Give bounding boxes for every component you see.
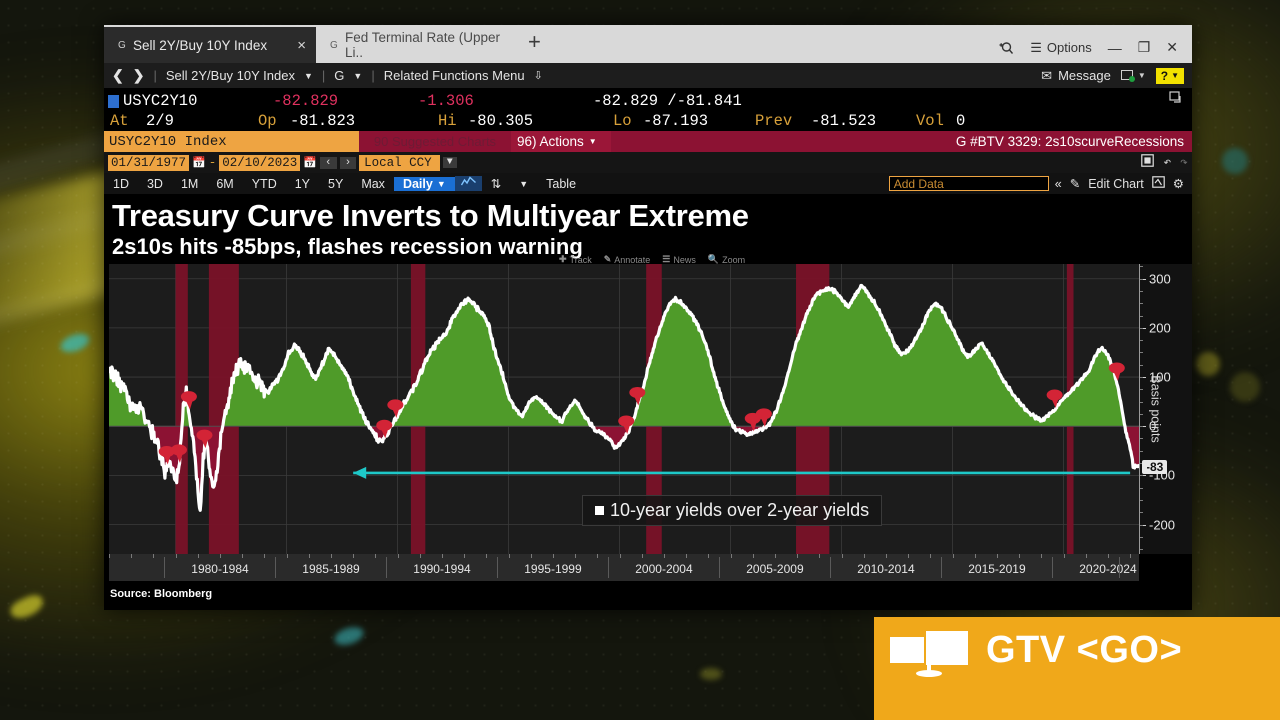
x-axis-separator xyxy=(497,557,498,578)
bokeh-shape xyxy=(1230,372,1260,402)
x-minor-tick xyxy=(686,554,687,558)
gtv-banner: GTV <GO> xyxy=(874,617,1280,720)
chevron-down-icon: ▼ xyxy=(1171,71,1179,80)
chevron-double-down-icon[interactable]: ⇩ xyxy=(534,69,543,82)
search-person-icon[interactable] xyxy=(998,40,1014,56)
x-axis-separator xyxy=(386,557,387,578)
tab-strip: G Sell 2Y/Buy 10Y Index × G Fed Terminal… xyxy=(104,25,1192,63)
x-minor-tick xyxy=(731,554,732,558)
x-tick-label: 2010-2014 xyxy=(857,562,914,576)
x-minor-tick xyxy=(664,554,665,558)
help-label: ? xyxy=(1161,69,1168,83)
high-value: -80.305 xyxy=(468,112,613,130)
y-axis-title: Basis points xyxy=(1148,375,1162,442)
crosshair-icon: ✚ xyxy=(559,254,567,265)
plot-wrapper: ✚Track ✎Annotate ☰News 🔍Zoom 10-year yie… xyxy=(104,264,1192,604)
x-minor-tick xyxy=(575,554,576,558)
chevron-down-icon: ▼ xyxy=(589,137,597,146)
add-data-input[interactable]: Add Data xyxy=(889,176,1049,191)
date-step-forward-button[interactable]: › xyxy=(340,157,357,169)
legend-label: 10-year yields over 2-year yields xyxy=(610,500,869,521)
options-label: Options xyxy=(1047,40,1092,55)
minimize-button[interactable]: — xyxy=(1108,40,1122,56)
navigation-bar: ❮ ❯ | Sell 2Y/Buy 10Y Index ▼ | G ▼ | Re… xyxy=(104,63,1192,88)
date-range-toolbar: 01/31/1977 📅 - 02/10/2023 📅 ‹ › Local CC… xyxy=(104,152,1192,173)
x-minor-tick xyxy=(198,554,199,558)
x-minor-tick xyxy=(398,554,399,558)
new-tab-button[interactable]: + xyxy=(516,31,553,57)
y-tick-label: -200 xyxy=(1149,517,1175,532)
x-minor-tick xyxy=(620,554,621,558)
breadcrumb-function[interactable]: G xyxy=(334,68,344,83)
hamburger-icon: ☰ xyxy=(1030,40,1042,56)
x-minor-tick xyxy=(331,554,332,558)
quote-block: USYC2Y10 -82.829 -1.306 -82.829 /-81.841… xyxy=(104,88,1192,131)
x-minor-tick xyxy=(486,554,487,558)
monitor-icon xyxy=(890,631,968,673)
tab-sell-2y-buy-10y-index[interactable]: G Sell 2Y/Buy 10Y Index × xyxy=(104,27,316,63)
calendar-icon[interactable]: 📅 xyxy=(303,156,317,170)
chart-window-controls: ↶ ↷ xyxy=(1141,154,1188,171)
period-toolbar: 1D 3D 1M 6M YTD 1Y 5Y Max Daily ▼ ⇅ ▼ Ta… xyxy=(104,173,1192,194)
frequency-label: Daily xyxy=(403,177,433,191)
x-axis-separator xyxy=(719,557,720,578)
actions-label: 96) Actions xyxy=(517,134,584,149)
chart-legend: 10-year yields over 2-year yields xyxy=(582,495,882,526)
x-tick-label: 1995-1999 xyxy=(524,562,581,576)
y-tick-label: 300 xyxy=(1149,271,1171,286)
annotate-icon[interactable] xyxy=(1152,176,1165,191)
x-axis: 1980-19841985-19891990-19941995-19992000… xyxy=(109,554,1139,581)
window-controls: ☰ Options — ❐ ✕ xyxy=(998,39,1192,63)
x-minor-tick xyxy=(242,554,243,558)
x-minor-tick xyxy=(264,554,265,558)
tab-label: Sell 2Y/Buy 10Y Index xyxy=(133,38,267,53)
divider: | xyxy=(371,68,374,83)
chevron-down-icon: ▼ xyxy=(1138,71,1146,80)
period-1y[interactable]: 1Y xyxy=(286,177,319,191)
bokeh-shape xyxy=(1222,148,1248,174)
chevron-down-icon[interactable]: ▼ xyxy=(353,71,362,81)
y-axis-spine xyxy=(1139,264,1140,554)
export-icon[interactable]: ▼ xyxy=(1121,70,1146,82)
suggested-charts-button[interactable]: 90 Suggested Charts xyxy=(359,131,511,152)
divider: | xyxy=(153,68,156,83)
restore-button[interactable]: ❐ xyxy=(1138,39,1151,56)
chart-identifier: G #BTV 3329: 2s10scurveRecessions xyxy=(611,131,1192,152)
options-menu-button[interactable]: ☰ Options xyxy=(1030,40,1091,56)
end-date-input[interactable]: 02/10/2023 xyxy=(219,155,300,171)
x-minor-tick xyxy=(375,554,376,558)
message-button[interactable]: ✉ Message xyxy=(1041,68,1111,84)
x-minor-tick xyxy=(864,554,865,558)
date-dash: - xyxy=(209,156,217,170)
x-minor-tick xyxy=(886,554,887,558)
chevron-down-icon[interactable]: ▼ xyxy=(304,71,313,81)
x-minor-tick xyxy=(153,554,154,558)
frequency-selector[interactable]: Daily ▼ xyxy=(394,177,455,191)
x-minor-tick xyxy=(442,554,443,558)
x-minor-tick xyxy=(176,554,177,558)
x-minor-tick xyxy=(819,554,820,558)
low-value: -87.193 xyxy=(643,112,755,130)
tab-fed-terminal-rate[interactable]: G Fed Terminal Rate (Upper Li.. xyxy=(316,27,516,63)
close-window-button[interactable]: ✕ xyxy=(1166,39,1178,56)
x-minor-tick xyxy=(1130,554,1131,558)
period-5y[interactable]: 5Y xyxy=(319,177,352,191)
chevron-down-icon[interactable]: ▼ xyxy=(510,179,537,189)
period-3d[interactable]: 3D xyxy=(138,177,172,191)
bokeh-shape xyxy=(1196,352,1220,376)
period-1m[interactable]: 1M xyxy=(172,177,207,191)
x-tick-label: 1985-1989 xyxy=(302,562,359,576)
related-functions-menu[interactable]: Related Functions Menu xyxy=(384,68,525,83)
price-change: -1.306 xyxy=(418,92,593,110)
zoom-tool[interactable]: 🔍Zoom xyxy=(708,254,745,265)
x-minor-tick xyxy=(464,554,465,558)
low-label: Lo xyxy=(613,112,643,130)
chart-panel: Treasury Curve Inverts to Multiyear Extr… xyxy=(104,194,1192,604)
x-axis-separator xyxy=(275,557,276,578)
x-minor-tick xyxy=(797,554,798,558)
security-color-swatch xyxy=(108,95,119,108)
tab-label: Fed Terminal Rate (Upper Li.. xyxy=(345,30,506,60)
currency-selector[interactable]: Local CCY xyxy=(359,155,440,171)
x-minor-tick xyxy=(353,554,354,558)
x-minor-tick xyxy=(509,554,510,558)
x-minor-tick xyxy=(109,554,110,558)
sort-icon[interactable]: ⇅ xyxy=(482,176,510,191)
security-input[interactable]: USYC2Y10 Index xyxy=(104,131,359,152)
breadcrumb-security[interactable]: Sell 2Y/Buy 10Y Index xyxy=(166,68,295,83)
x-tick-label: 2000-2004 xyxy=(635,562,692,576)
chart-type-icon[interactable] xyxy=(455,176,482,191)
open-value: -81.823 xyxy=(290,112,438,130)
source-credit: Source: Bloomberg xyxy=(110,588,212,600)
x-minor-tick xyxy=(131,554,132,558)
period-6m[interactable]: 6M xyxy=(207,177,242,191)
x-minor-tick xyxy=(1019,554,1020,558)
x-minor-tick xyxy=(309,554,310,558)
x-minor-tick xyxy=(597,554,598,558)
legend-swatch xyxy=(595,506,604,515)
y-axis: 3002001000-100-200 -83 Basis points xyxy=(1139,264,1192,554)
x-minor-tick xyxy=(975,554,976,558)
bid-ask-range: -82.829 /-81.841 xyxy=(593,92,742,110)
chevron-down-icon[interactable]: ▼ xyxy=(443,157,457,168)
x-minor-tick xyxy=(908,554,909,558)
table-view-button[interactable]: Table xyxy=(537,177,585,191)
x-tick-label: 2005-2009 xyxy=(746,562,803,576)
chart-edit-controls: « ✎ Edit Chart ⚙ xyxy=(1055,176,1192,191)
annotate-tool[interactable]: ✎Annotate xyxy=(604,254,651,265)
x-tick-label: 1980-1984 xyxy=(191,562,248,576)
x-axis-separator xyxy=(830,557,831,578)
x-minor-tick xyxy=(753,554,754,558)
high-label: Hi xyxy=(438,112,468,130)
collapse-icon[interactable]: « xyxy=(1055,177,1062,191)
bokeh-shape xyxy=(700,668,722,680)
open-label: Op xyxy=(258,112,290,130)
headline-block: Treasury Curve Inverts to Multiyear Extr… xyxy=(104,194,1192,258)
divider: | xyxy=(322,68,325,83)
x-minor-tick xyxy=(997,554,998,558)
chart-float-toolbar: ✚Track ✎Annotate ☰News 🔍Zoom xyxy=(559,254,745,265)
quote-row-primary: USYC2Y10 -82.829 -1.306 -82.829 /-81.841 xyxy=(104,91,1192,111)
function-letter-icon: G xyxy=(118,40,126,51)
message-label: Message xyxy=(1058,68,1111,83)
page-title: Treasury Curve Inverts to Multiyear Extr… xyxy=(112,200,1192,233)
expand-chart-icon[interactable] xyxy=(1141,154,1154,171)
x-minor-tick xyxy=(1108,554,1109,558)
x-minor-tick xyxy=(553,554,554,558)
x-axis-separator xyxy=(164,557,165,578)
prev-value: -81.523 xyxy=(811,112,916,130)
magnifier-icon: 🔍 xyxy=(708,254,719,265)
forward-button[interactable]: ❯ xyxy=(133,67,145,84)
news-tool[interactable]: ☰News xyxy=(662,254,696,265)
actions-menu-button[interactable]: 96) Actions ▼ xyxy=(511,131,611,152)
pencil-icon[interactable]: ✎ xyxy=(1070,176,1080,191)
x-minor-tick xyxy=(531,554,532,558)
at-label: At xyxy=(110,112,146,130)
volume-value: 0 xyxy=(956,112,965,130)
envelope-icon: ✉ xyxy=(1041,68,1052,84)
x-minor-tick xyxy=(287,554,288,558)
x-minor-tick xyxy=(953,554,954,558)
chevron-down-icon: ▼ xyxy=(437,179,446,189)
bloomberg-terminal-window: G Sell 2Y/Buy 10Y Index × G Fed Terminal… xyxy=(104,25,1192,610)
last-price-tag: -83 xyxy=(1142,460,1167,474)
gear-icon[interactable]: ⚙ xyxy=(1173,176,1184,191)
x-minor-tick xyxy=(842,554,843,558)
pencil-icon: ✎ xyxy=(604,254,612,265)
start-date-input[interactable]: 01/31/1977 xyxy=(108,155,189,171)
x-axis-separator xyxy=(608,557,609,578)
calendar-icon[interactable]: 📅 xyxy=(192,156,206,170)
x-minor-tick xyxy=(420,554,421,558)
x-minor-tick xyxy=(930,554,931,558)
period-max[interactable]: Max xyxy=(352,177,394,191)
screen: G Sell 2Y/Buy 10Y Index × G Fed Terminal… xyxy=(0,0,1280,720)
quote-row-stats: At 2/9 Op -81.823 Hi -80.305 Lo -87.193 … xyxy=(104,111,1192,131)
redo-icon[interactable]: ↷ xyxy=(1180,155,1188,170)
x-tick-label: 2020-2024 xyxy=(1079,562,1136,576)
track-tool[interactable]: ✚Track xyxy=(559,254,592,265)
x-tick-label: 2015-2019 xyxy=(968,562,1025,576)
ticker-symbol: USYC2Y10 xyxy=(123,92,273,110)
x-minor-tick xyxy=(775,554,776,558)
prev-label: Prev xyxy=(755,112,811,130)
at-value: 2/9 xyxy=(146,112,258,130)
help-button[interactable]: ? ▼ xyxy=(1156,68,1184,84)
period-ytd[interactable]: YTD xyxy=(243,177,286,191)
x-axis-separator xyxy=(1119,557,1120,578)
function-letter-icon: G xyxy=(330,40,338,51)
x-minor-tick xyxy=(1041,554,1042,558)
x-axis-separator xyxy=(941,557,942,578)
security-action-bar: USYC2Y10 Index 90 Suggested Charts 96) A… xyxy=(104,131,1192,152)
x-minor-tick xyxy=(1064,554,1065,558)
close-icon[interactable]: × xyxy=(297,38,306,53)
x-tick-label: 1990-1994 xyxy=(413,562,470,576)
x-minor-tick xyxy=(220,554,221,558)
snapshot-icon[interactable] xyxy=(1169,91,1184,111)
x-minor-tick xyxy=(642,554,643,558)
x-minor-tick xyxy=(708,554,709,558)
navbar-right-group: ✉ Message ▼ ? ▼ xyxy=(1041,68,1184,84)
edit-chart-button[interactable]: Edit Chart xyxy=(1088,177,1144,191)
x-axis-separator xyxy=(1052,557,1053,578)
x-minor-tick xyxy=(1086,554,1087,558)
date-step-back-button[interactable]: ‹ xyxy=(320,157,337,169)
back-button[interactable]: ❮ xyxy=(112,67,124,84)
undo-icon[interactable]: ↶ xyxy=(1163,155,1171,170)
y-tick-label: 200 xyxy=(1149,320,1171,335)
last-price: -82.829 xyxy=(273,92,418,110)
news-icon: ☰ xyxy=(662,254,670,265)
gtv-label: GTV <GO> xyxy=(986,631,1182,669)
volume-label: Vol xyxy=(916,112,956,130)
period-1d[interactable]: 1D xyxy=(104,177,138,191)
